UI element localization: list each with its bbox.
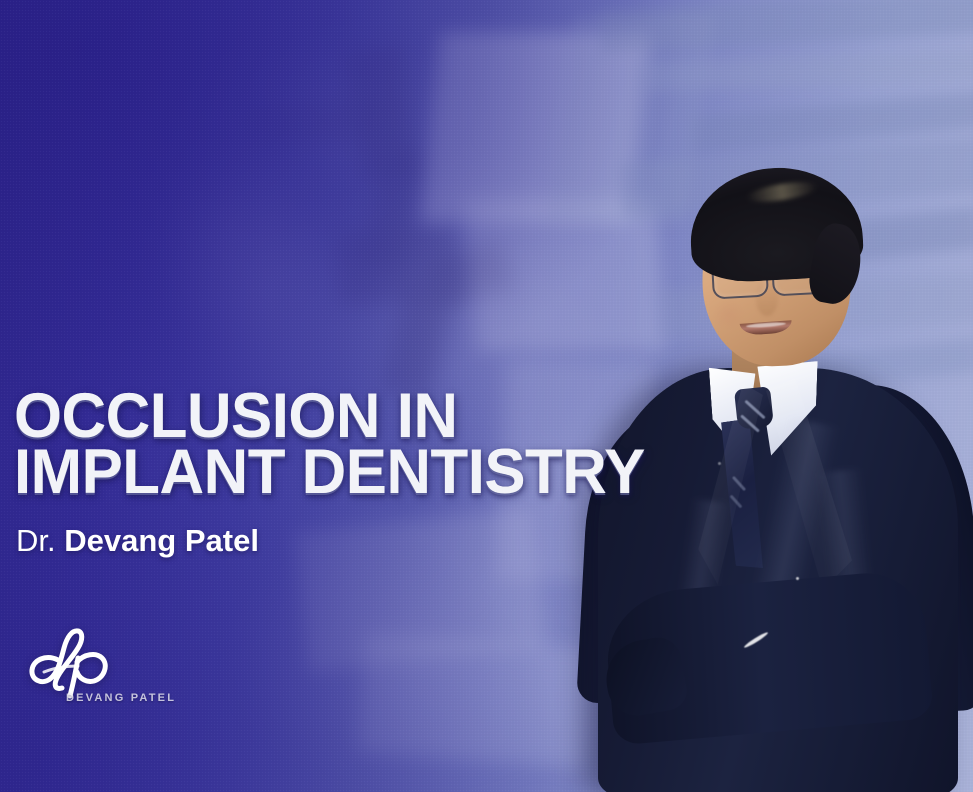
poster-canvas: OCCLUSION IN IMPLANT DENTISTRY Dr. Devan… [0, 0, 973, 792]
sleeve-highlight [718, 462, 721, 465]
logo-wordmark: DEVANG PATEL [66, 692, 176, 704]
presenter-name: Dr. Devang Patel [16, 524, 714, 558]
presenter-full-name: Devang Patel [64, 523, 259, 558]
headline-line-2: IMPLANT DENTISTRY [14, 444, 700, 500]
presenter-title-prefix: Dr. [16, 523, 56, 558]
dp-monogram-icon [22, 626, 140, 700]
title-block: OCCLUSION IN IMPLANT DENTISTRY Dr. Devan… [14, 388, 714, 558]
brand-logo: DEVANG PATEL [22, 626, 182, 722]
sleeve-highlight [796, 577, 799, 580]
page-title: OCCLUSION IN IMPLANT DENTISTRY [14, 388, 700, 500]
headline-line-1: OCCLUSION IN [14, 388, 700, 444]
